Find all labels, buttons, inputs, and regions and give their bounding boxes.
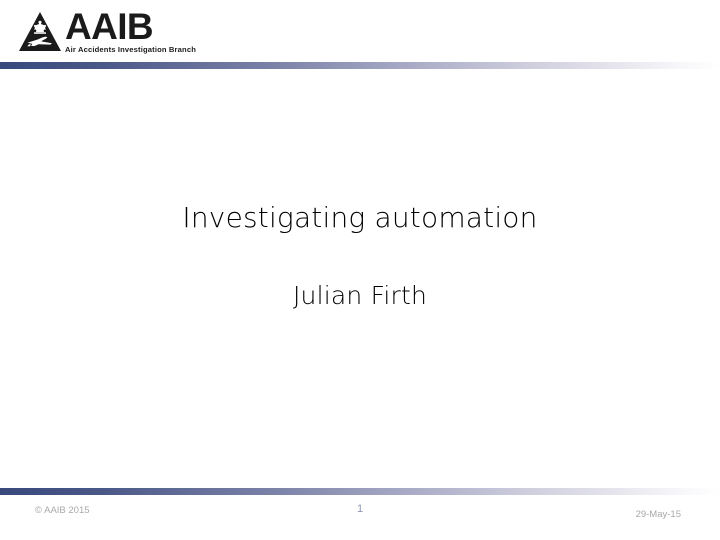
slide-title: Investigating automation — [0, 201, 720, 235]
aaib-logo: AAIB Air Accidents Investigation Branch — [18, 11, 196, 55]
footer-divider — [0, 488, 720, 495]
slide-footer: © AAIB 2015 1 29-May-15 — [0, 495, 720, 540]
header-divider — [0, 62, 720, 69]
aaib-subtitle: Air Accidents Investigation Branch — [65, 45, 196, 55]
footer-page-number: 1 — [0, 503, 720, 515]
slide-content: Investigating automation Julian Firth — [0, 69, 720, 488]
aaib-logo-text: AAIB Air Accidents Investigation Branch — [65, 11, 196, 55]
slide-subtitle-author: Julian Firth — [0, 281, 720, 311]
presentation-slide: AAIB Air Accidents Investigation Branch … — [0, 0, 720, 540]
aaib-crown-aircraft-emblem — [18, 11, 62, 53]
footer-date: 29-May-15 — [636, 509, 681, 520]
aaib-acronym: AAIB — [65, 12, 196, 42]
